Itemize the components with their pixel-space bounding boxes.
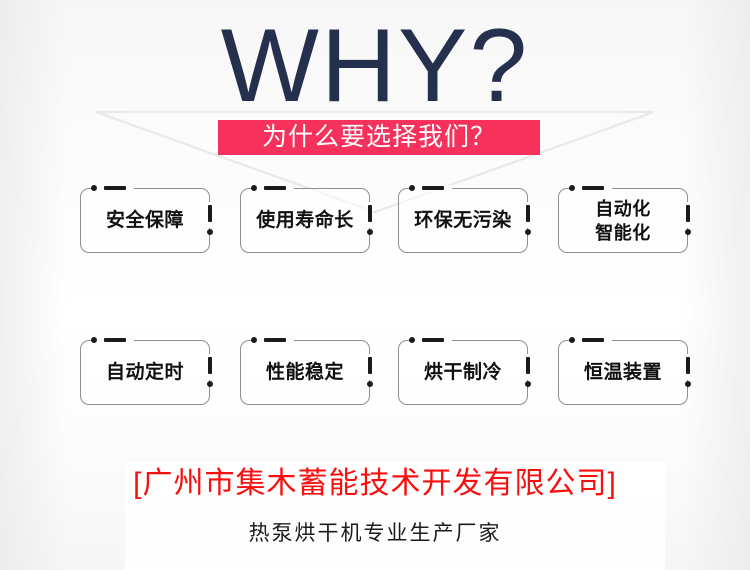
company-name: [广州市集木蓄能技术开发有限公司] bbox=[0, 466, 750, 502]
company-tagline: 热泵烘干机专业生产厂家 bbox=[0, 521, 750, 547]
feature-label: 烘干制冷 bbox=[398, 340, 528, 405]
feature-label: 恒温装置 bbox=[558, 340, 688, 405]
feature-box-auto-timer[interactable]: 自动定时 bbox=[80, 340, 210, 405]
feature-box-constant-temp[interactable]: 恒温装置 bbox=[558, 340, 688, 405]
feature-label: 性能稳定 bbox=[240, 340, 370, 405]
feature-label: 安全保障 bbox=[80, 188, 210, 253]
feature-label-line1: 环保无污染 bbox=[414, 209, 512, 232]
feature-label: 环保无污染 bbox=[398, 188, 528, 253]
feature-label-line1: 自动定时 bbox=[106, 361, 184, 384]
subtitle-banner-text: 为什么要选择我们？ bbox=[262, 125, 496, 150]
feature-box-lifespan[interactable]: 使用寿命长 bbox=[240, 188, 370, 253]
feature-box-dry-cool[interactable]: 烘干制冷 bbox=[398, 340, 528, 405]
page-title: WHY? bbox=[0, 14, 750, 118]
feature-label: 自动化 智能化 bbox=[558, 188, 688, 253]
feature-box-automation[interactable]: 自动化 智能化 bbox=[558, 188, 688, 253]
feature-label-line1: 性能稳定 bbox=[266, 361, 344, 384]
feature-label: 自动定时 bbox=[80, 340, 210, 405]
feature-box-eco[interactable]: 环保无污染 bbox=[398, 188, 528, 253]
feature-label: 使用寿命长 bbox=[240, 188, 370, 253]
feature-label-line1: 安全保障 bbox=[106, 209, 184, 232]
feature-label-line1: 烘干制冷 bbox=[424, 361, 502, 384]
feature-label-line1: 使用寿命长 bbox=[256, 209, 354, 232]
feature-label-line1: 恒温装置 bbox=[584, 361, 662, 384]
feature-label-line1: 自动化 bbox=[595, 197, 651, 221]
feature-label-line2: 智能化 bbox=[595, 221, 651, 245]
poster-canvas: WHY? 为什么要选择我们？ 安全保障 使用寿命长 bbox=[0, 0, 750, 570]
subtitle-banner: 为什么要选择我们？ bbox=[218, 120, 540, 155]
feature-box-safety[interactable]: 安全保障 bbox=[80, 188, 210, 253]
feature-box-stability[interactable]: 性能稳定 bbox=[240, 340, 370, 405]
